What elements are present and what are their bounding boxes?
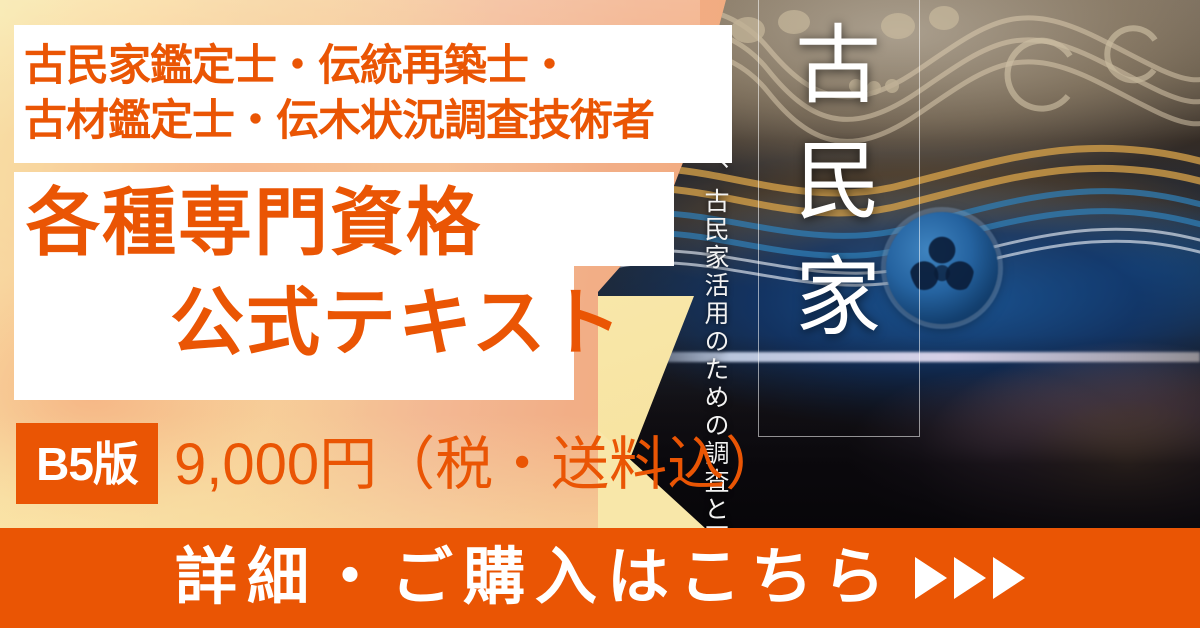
format-badge-label: B5版: [36, 441, 138, 487]
triangle-right-icon: [915, 557, 947, 599]
cover-title-char-1: 古: [766, 8, 912, 124]
price-text: 9,000円（税・送料込）: [174, 430, 783, 500]
triangle-right-icon: [954, 557, 986, 599]
cta-label: 詳細・ご購入はこちら: [175, 547, 895, 609]
cta-button[interactable]: 詳細・ご購入はこちら: [0, 528, 1200, 628]
subhead-block: 各種専門資格 公式テキスト: [14, 172, 674, 400]
subhead-line-1: 各種専門資格: [26, 186, 482, 260]
subhead-line-2: 公式テキスト: [170, 286, 624, 360]
promo-banner: 古 民 家 伝統構法、古民家活用のための調査と再生の 古民家鑑定士・伝統再築士・…: [0, 0, 1200, 628]
triangle-right-icon: [993, 557, 1025, 599]
cover-title: 古 民 家: [766, 8, 912, 356]
cover-title-char-3: 家: [766, 240, 912, 356]
headline-line-2: 古材鑑定士・伝木状況調査技術者: [24, 94, 732, 149]
format-badge: B5版: [16, 423, 158, 504]
headline-block: 古民家鑑定士・伝統再築士・ 古材鑑定士・伝木状況調査技術者: [14, 25, 732, 163]
cta-arrows: [915, 557, 1025, 599]
cover-title-char-2: 民: [766, 124, 912, 240]
headline-line-1: 古民家鑑定士・伝統再築士・: [24, 39, 732, 94]
